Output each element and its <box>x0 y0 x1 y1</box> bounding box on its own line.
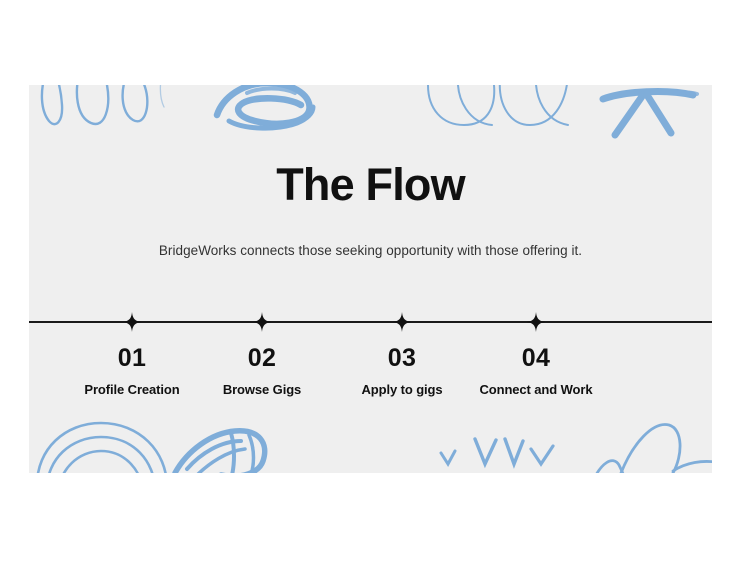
card-header: The Flow BridgeWorks connects those seek… <box>29 85 712 258</box>
step-number: 04 <box>451 344 621 373</box>
step-label: Connect and Work <box>451 382 621 397</box>
flow-section-card: The Flow BridgeWorks connects those seek… <box>29 85 712 473</box>
flow-timeline: 01 Profile Creation 02 Browse Gigs 03 Ap… <box>29 321 712 441</box>
four-point-star-icon <box>451 312 621 332</box>
timeline-step-04[interactable]: 04 Connect and Work <box>451 312 621 397</box>
page-subtitle: BridgeWorks connects those seeking oppor… <box>29 208 712 258</box>
page-title: The Flow <box>29 85 712 208</box>
